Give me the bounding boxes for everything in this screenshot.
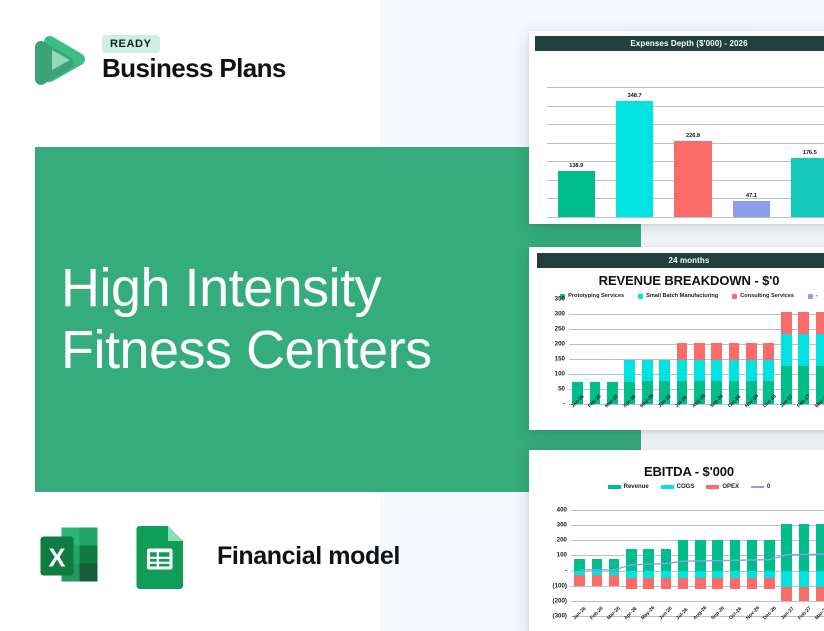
bar[interactable]: 348.7: [616, 101, 653, 217]
bar-segment: [746, 360, 757, 381]
y-axis-tick: (100): [553, 582, 567, 589]
bar-segment: [729, 343, 740, 360]
y-axis-tick: 350: [555, 296, 565, 303]
expenses-depth-plot: 138.9348.7226.847.1176.5: [547, 87, 824, 217]
bar-column[interactable]: [778, 299, 795, 404]
legend-item: 0: [751, 484, 770, 490]
page-title-line-1: High Intensity: [61, 258, 581, 320]
bar-value-label: 47.1: [746, 193, 757, 199]
legend-swatch-icon: [808, 294, 813, 299]
financial-model-label: Financial model: [217, 542, 400, 571]
expenses-chart-title: Expenses Depth ($'000) - 2026: [535, 36, 824, 51]
ebitda-plot: 400300200100-(100)(200)(300): [571, 510, 824, 616]
stacked-bar[interactable]: [816, 312, 824, 404]
bar-column[interactable]: 138.9: [547, 87, 605, 217]
y-axis-tick: 150: [555, 356, 565, 363]
ebitda-x-axis: Jan-26Feb-26Mar-26Apr-26May-26Jun-26Jul-…: [571, 617, 824, 631]
bar-segment: [694, 343, 705, 360]
y-axis-tick: -: [565, 567, 567, 574]
revenue-period-banner: 24 months: [537, 253, 824, 268]
chart-card-expenses-depth[interactable]: Expenses Depth ($'000) - 2026 138.9348.7…: [529, 31, 824, 224]
y-axis-tick: (300): [553, 613, 567, 620]
bar-column[interactable]: [586, 299, 603, 404]
bar-column[interactable]: [743, 299, 760, 404]
bar-segment: [642, 360, 653, 381]
brand-name: Business Plans: [102, 55, 286, 82]
bar[interactable]: 176.5: [791, 158, 824, 217]
poster-canvas: READY Business Plans High Intensity Fitn…: [0, 0, 824, 631]
bar-value-label: 348.7: [628, 93, 642, 99]
bar-segment: [816, 334, 824, 366]
bar-column[interactable]: 226.8: [664, 87, 722, 217]
zero-line-series: [571, 510, 824, 616]
y-axis-tick: 100: [555, 371, 565, 378]
stacked-bar-group: [569, 299, 824, 404]
bar-column[interactable]: 348.7: [605, 87, 663, 217]
revenue-breakdown-plot: 35030025020015010050-: [569, 299, 824, 404]
bar-segment: [677, 343, 688, 360]
y-axis-tick: 300: [557, 522, 567, 529]
play-triangle-logo-icon: [30, 26, 90, 88]
legend-swatch-icon: [638, 294, 643, 299]
bar-column[interactable]: [569, 299, 586, 404]
legend-swatch-icon: [608, 485, 621, 489]
bar-column[interactable]: [691, 299, 708, 404]
y-axis-tick: 50: [558, 386, 565, 393]
page-title: High Intensity Fitness Centers: [61, 258, 581, 381]
brand-logo-block[interactable]: READY Business Plans: [30, 26, 286, 88]
y-axis-tick: -: [563, 401, 565, 408]
bar-segment: [694, 360, 705, 381]
ready-badge: READY: [102, 35, 160, 53]
bar-segment: [711, 360, 722, 381]
brand-text: READY Business Plans: [102, 31, 286, 82]
y-axis-tick: 400: [557, 507, 567, 514]
bar-column[interactable]: [639, 299, 656, 404]
bar-segment: [798, 312, 809, 334]
bar-value-label: 226.8: [686, 133, 700, 139]
legend-item: COGS: [661, 484, 695, 490]
bar[interactable]: 226.8: [674, 141, 711, 217]
ebitda-chart-title: EBITDA - $'000: [529, 464, 824, 479]
bar-column[interactable]: [673, 299, 690, 404]
bar[interactable]: 47.1: [733, 201, 770, 217]
bar-segment: [711, 343, 722, 360]
bar-column[interactable]: 176.5: [781, 87, 824, 217]
formats-row: X Financial model: [33, 520, 400, 592]
y-axis-tick: 300: [555, 311, 565, 318]
bar-segment: [624, 360, 635, 381]
legend-item: Revenue: [608, 484, 649, 490]
bar-column[interactable]: [760, 299, 777, 404]
bar-segment: [659, 360, 670, 381]
bar-segment: [763, 360, 774, 381]
bar-value-label: 176.5: [803, 150, 817, 156]
bar-column[interactable]: [656, 299, 673, 404]
svg-text:X: X: [48, 545, 65, 573]
bar-column[interactable]: [708, 299, 725, 404]
y-axis-tick: 200: [557, 537, 567, 544]
bar-segment: [816, 312, 824, 334]
bar-segment: [729, 360, 740, 381]
bar-segment: [781, 312, 792, 334]
legend-swatch-icon: [661, 485, 674, 489]
bar-column[interactable]: 47.1: [722, 87, 780, 217]
bar-segment: [746, 343, 757, 360]
legend-swatch-icon: [706, 485, 719, 489]
legend-label: OPEX: [722, 484, 739, 490]
google-sheets-icon: [123, 520, 195, 592]
bar-segment: [763, 343, 774, 360]
legend-label: COGS: [677, 484, 695, 490]
legend-swatch-icon: [751, 486, 764, 488]
y-axis-tick: 100: [557, 552, 567, 559]
revenue-x-axis: Jan-26Feb-26Mar-26Apr-26May-26Jun-26Jul-…: [569, 405, 824, 429]
microsoft-excel-icon: X: [33, 520, 105, 592]
bar-column[interactable]: [812, 299, 824, 404]
bar-column[interactable]: [725, 299, 742, 404]
bar-segment: [798, 334, 809, 366]
bar-group: 138.9348.7226.847.1176.5: [547, 87, 824, 217]
bar-column[interactable]: [621, 299, 638, 404]
y-axis-tick: (200): [553, 597, 567, 604]
legend-label: 0: [767, 484, 770, 490]
bar-segment: [781, 334, 792, 366]
y-axis-tick: 200: [555, 341, 565, 348]
bar-column[interactable]: [795, 299, 812, 404]
ebitda-legend: RevenueCOGSOPEX0: [529, 484, 824, 490]
revenue-chart-title: REVENUE BREAKDOWN - $'0: [529, 273, 824, 288]
y-axis-tick: 250: [555, 326, 565, 333]
chart-card-revenue-breakdown[interactable]: 24 months REVENUE BREAKDOWN - $'0 Protot…: [529, 247, 824, 430]
legend-label: Revenue: [624, 484, 649, 490]
stacked-bar[interactable]: [798, 312, 809, 404]
stacked-bar[interactable]: [781, 312, 792, 404]
bar-column[interactable]: [604, 299, 621, 404]
bar[interactable]: 138.9: [558, 171, 595, 217]
legend-item: OPEX: [706, 484, 739, 490]
bar-segment: [677, 360, 688, 381]
page-title-line-2: Fitness Centers: [61, 320, 581, 382]
bar-value-label: 138.9: [569, 163, 583, 169]
chart-card-ebitda[interactable]: EBITDA - $'000 RevenueCOGSOPEX0 40030020…: [529, 450, 824, 631]
legend-swatch-icon: [732, 294, 737, 299]
gridline: [547, 217, 824, 218]
